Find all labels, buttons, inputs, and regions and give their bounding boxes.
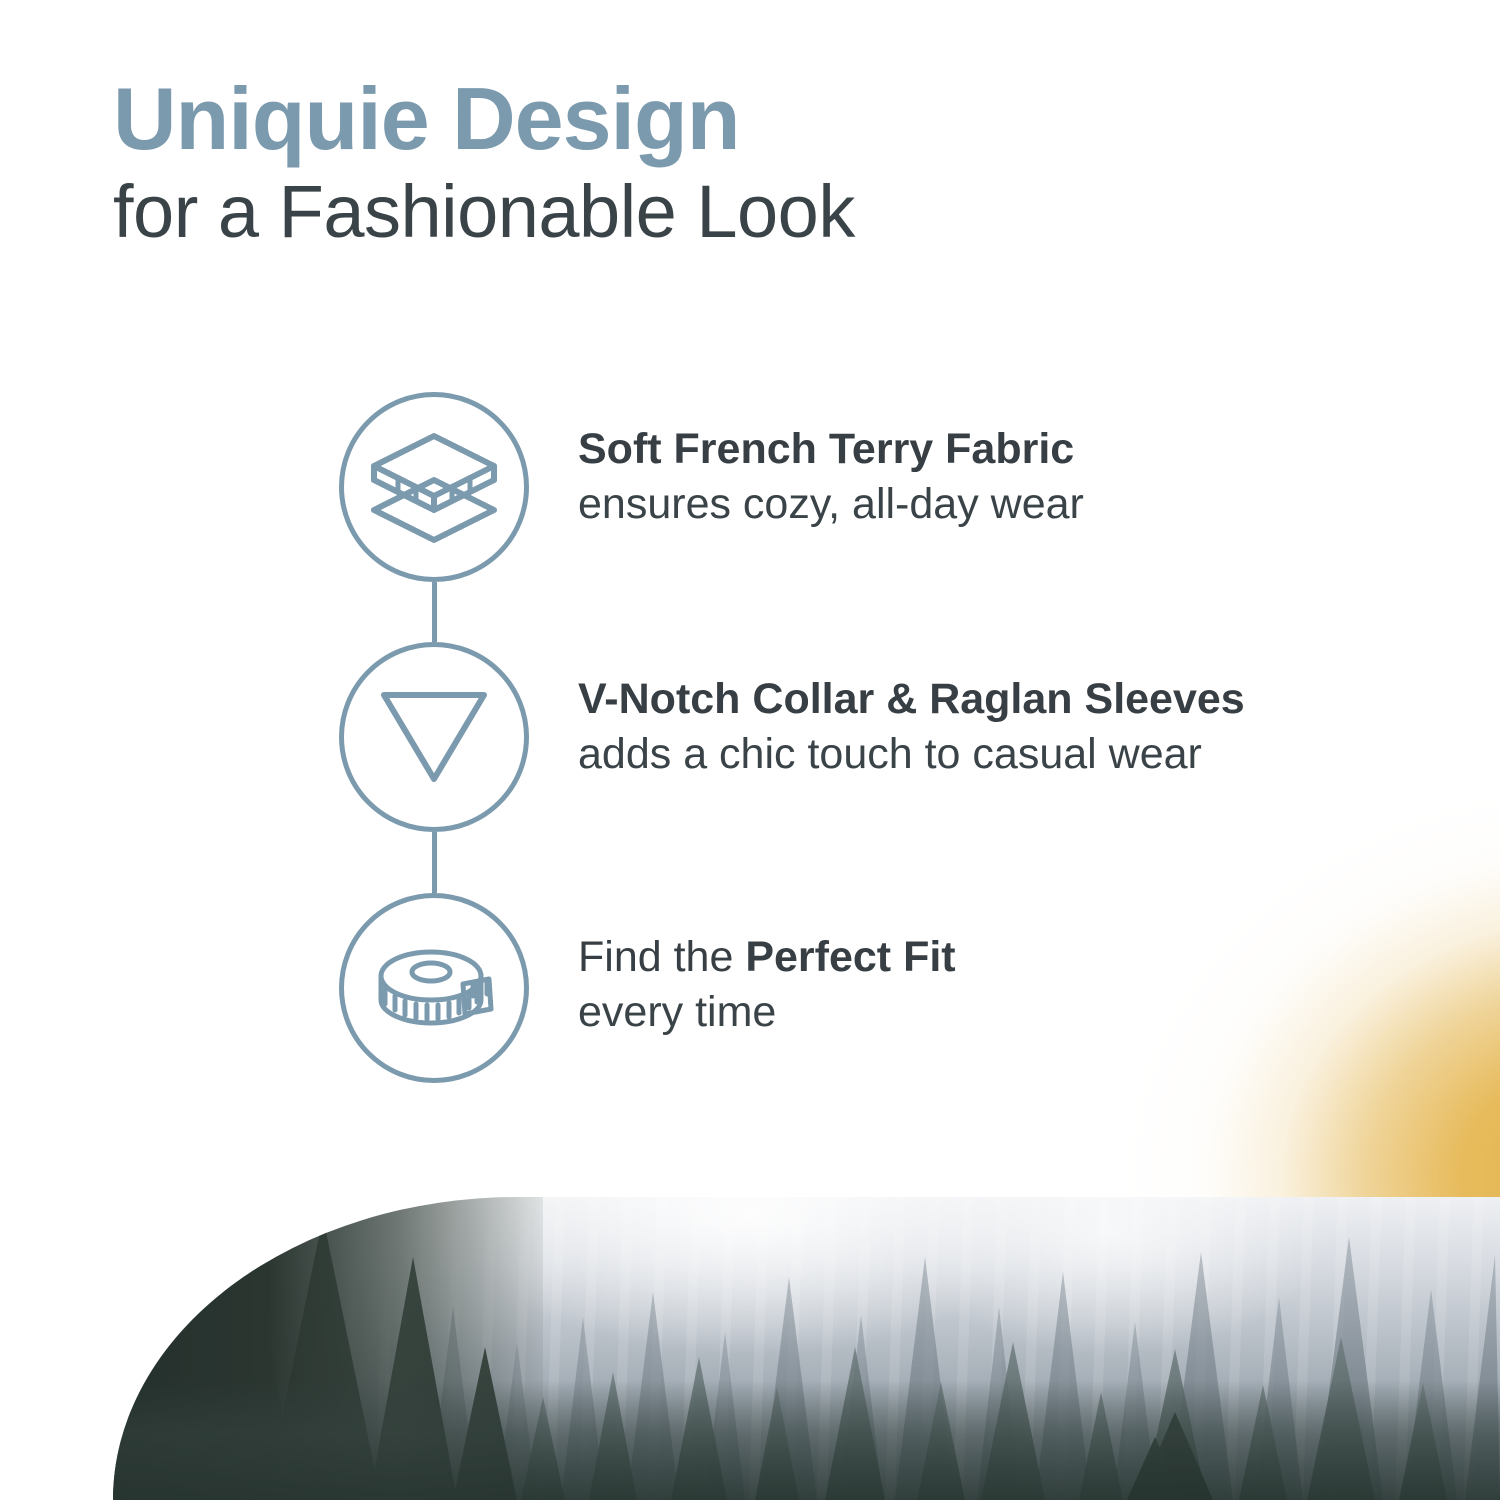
feature-icon-circle-3[interactable]: [339, 893, 529, 1083]
feature-icon-circle-1[interactable]: [339, 392, 529, 582]
feature-text-1: Soft French Terry Fabric ensures cozy, a…: [578, 424, 1084, 529]
feature-title-3-prefix: Find the: [578, 933, 745, 981]
page-title: Uniquie Design for a Fashionable Look: [113, 72, 855, 253]
measuring-tape-icon: [369, 938, 499, 1038]
promo-banner: Uniquie Design for a Fashionable Look: [0, 0, 1500, 1500]
feature-subtitle-2: adds a chic touch to casual wear: [578, 729, 1245, 780]
feature-text-3: Find the Perfect Fit every time: [578, 932, 956, 1037]
feature-title-1: Soft French Terry Fabric: [578, 424, 1084, 475]
headline-primary: Uniquie Design: [113, 72, 855, 165]
layered-fabric-icon: [368, 428, 500, 546]
connector-line-2: [432, 832, 437, 893]
feature-subtitle-1: ensures cozy, all-day wear: [578, 479, 1084, 530]
feature-title-3: Find the Perfect Fit: [578, 932, 956, 983]
v-notch-triangle-icon: [379, 689, 489, 785]
feature-title-2: V-Notch Collar & Raglan Sleeves: [578, 674, 1245, 725]
feature-text-2: V-Notch Collar & Raglan Sleeves adds a c…: [578, 674, 1245, 779]
feature-title-3-emphasis: Perfect Fit: [745, 933, 955, 981]
feature-subtitle-3: every time: [578, 987, 956, 1038]
feature-icon-circle-2[interactable]: [339, 642, 529, 832]
headline-secondary: for a Fashionable Look: [113, 171, 855, 252]
connector-line-1: [432, 582, 437, 642]
